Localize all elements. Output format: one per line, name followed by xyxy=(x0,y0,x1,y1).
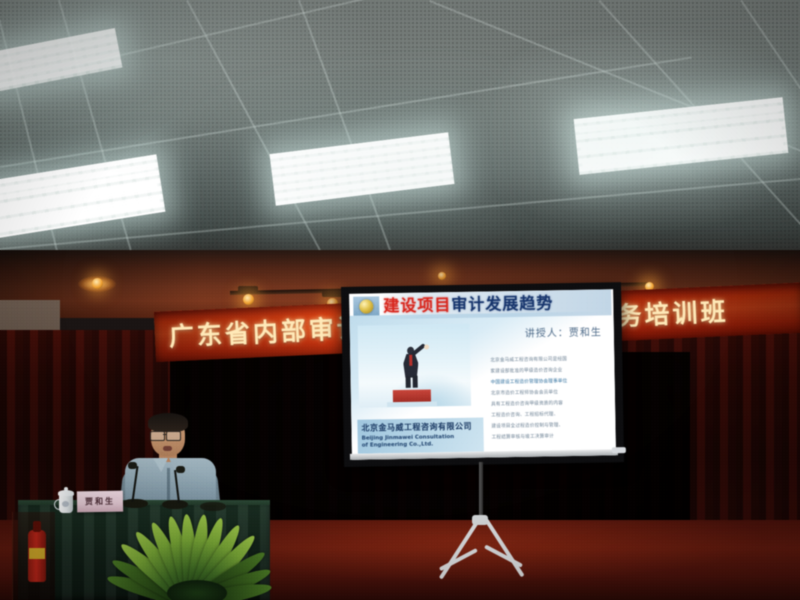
businessman-tie xyxy=(409,355,412,366)
slide-photo xyxy=(358,324,471,408)
microphone-head xyxy=(176,466,185,473)
fire-extinguisher-valve xyxy=(33,521,41,532)
speaker-person xyxy=(123,416,218,511)
slide-title-blue: 审计发展趋势 xyxy=(451,293,553,314)
screen-surface: 建设项目审计发展趋势 讲授人：贾和生 xyxy=(349,289,616,460)
slide-body-line: 北京市造价工程师协会会员单位 xyxy=(491,388,609,397)
slide-logo xyxy=(353,296,379,315)
screen-pull-knob[interactable] xyxy=(612,447,626,453)
company-name-cn: 北京金马威工程咨询有限公司 xyxy=(361,421,479,434)
plant-base xyxy=(167,580,227,600)
speaker-mouth xyxy=(163,446,172,451)
businessman-leg xyxy=(413,376,418,388)
slide-company-block: 北京金马威工程咨询有限公司 Beijing Jinmawei Consultat… xyxy=(357,418,484,454)
conference-hall-photo: 广东省内部审计协会建……综审计实务培训班 建设项目审计发展趋势 讲授人：贾和生 xyxy=(0,0,800,600)
slide-body-text: 北京金马威工程咨询有限公司是经国 家建设部批准的甲级造价咨询企业 中国建设工程造… xyxy=(490,355,610,445)
slide-body-line: 建设项目全过程造价控制与管理、 xyxy=(491,421,609,430)
spotlight-housing xyxy=(322,290,342,297)
speaker-glasses-bridge xyxy=(163,434,167,435)
speaker-glasses-left-lens xyxy=(150,431,165,441)
spotlight-housing xyxy=(238,286,258,293)
slide-presenter: 讲授人：贾和生 xyxy=(525,323,602,339)
businessman-leg xyxy=(406,376,411,388)
teacup-lid-knob xyxy=(64,487,68,491)
speaker-glasses-right-lens xyxy=(166,431,181,441)
presentation-slide: 建设项目审计发展趋势 讲授人：贾和生 xyxy=(349,289,616,460)
tripod-hub xyxy=(472,515,488,525)
slide-body-line: 家建设部批准的甲级造价咨询企业 xyxy=(490,366,608,375)
spotlight xyxy=(243,294,254,305)
slide-title: 建设项目审计发展趋势 xyxy=(383,290,601,318)
slide-body-line: 北京金马威工程咨询有限公司是经国 xyxy=(490,355,608,364)
microphone-head xyxy=(128,462,137,469)
fire-extinguisher-label xyxy=(29,548,45,559)
slide-body-line: 中国建设工程造价管理协会理事单位 xyxy=(491,377,609,386)
company-name-en-2: of Engineering Co.,Ltd. xyxy=(362,441,480,450)
slide-body-line: 工程结算审核与竣工决算审计 xyxy=(492,432,610,441)
spotlight xyxy=(92,278,103,289)
teacup-motif xyxy=(62,501,69,507)
globe-emblem-icon xyxy=(359,299,373,313)
spotlight xyxy=(438,272,446,280)
slide-body-line: 具有工程造价咨询甲级资质的内容 xyxy=(491,399,609,408)
slide-title-red: 建设项目 xyxy=(383,295,451,315)
photo-businessman xyxy=(398,347,425,391)
projection-screen: 建设项目审计发展趋势 讲授人：贾和生 xyxy=(341,282,624,467)
speaker-hair xyxy=(148,413,188,432)
businessman-hand xyxy=(424,344,429,349)
slide-body-line: 工程造价咨询、工程招标代理、 xyxy=(491,410,609,419)
potted-plant xyxy=(72,498,302,600)
photo-podium-base xyxy=(387,401,437,407)
